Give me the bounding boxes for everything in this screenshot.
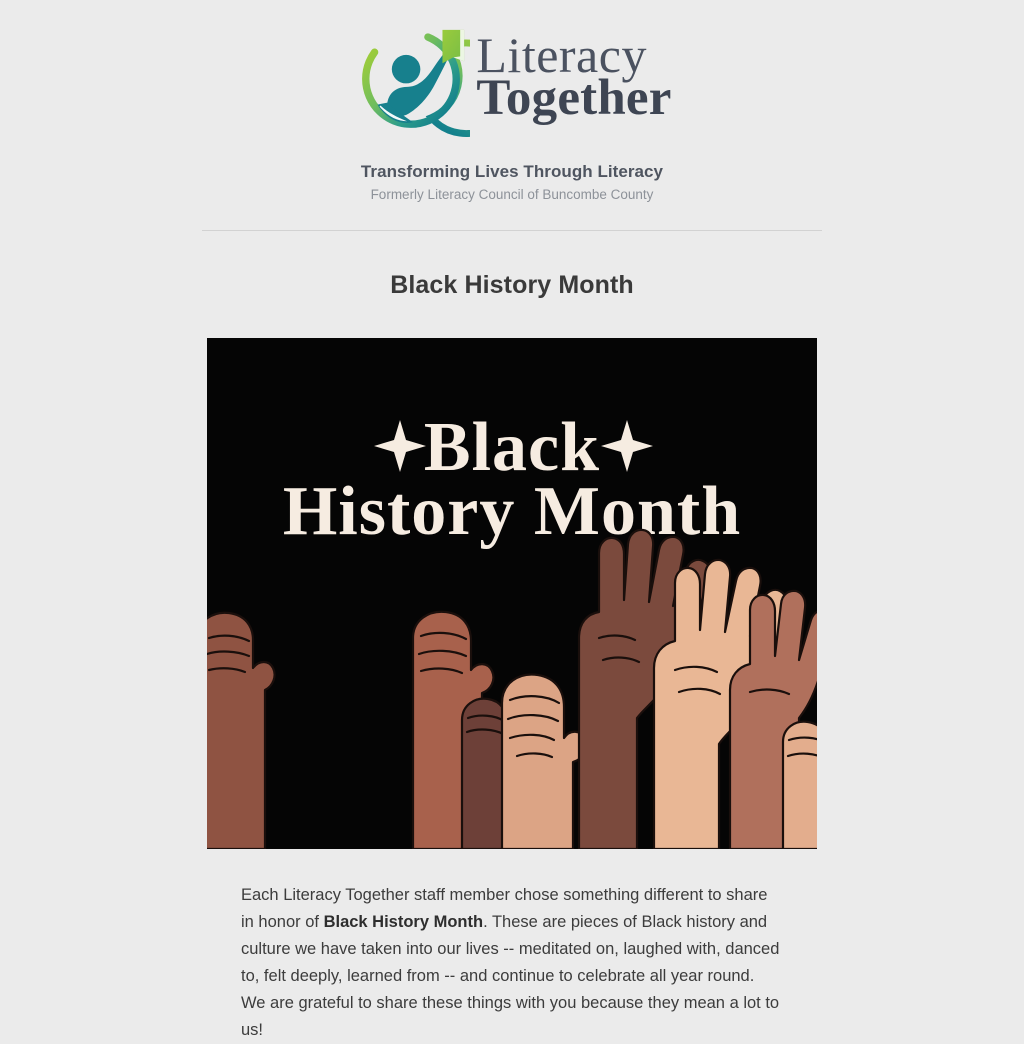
email-newsletter: Literacy Together Transforming Lives Thr… <box>0 0 1024 1024</box>
logo-lockup[interactable]: Literacy Together <box>0 14 1024 144</box>
subtagline: Formerly Literacy Council of Buncombe Co… <box>0 187 1024 202</box>
body-paragraph: Each Literacy Together staff member chos… <box>241 882 783 1044</box>
page-title: Black History Month <box>0 271 1024 300</box>
hero-image[interactable]: Black History Month <box>207 338 817 849</box>
email-body: Black History Month Black History Month <box>0 271 1024 1044</box>
header-divider <box>202 230 822 231</box>
tagline: Transforming Lives Through Literacy <box>0 162 1024 182</box>
email-header: Literacy Together Transforming Lives Thr… <box>0 0 1024 231</box>
paragraph-part-2: . These are pieces of Black history and … <box>241 913 779 1039</box>
literacy-together-logo-icon <box>352 20 470 138</box>
wordmark-together: Together <box>476 74 671 124</box>
raised-hands-illustration-icon: Black History Month <box>207 338 817 849</box>
logo-wordmark: Literacy Together <box>476 31 671 128</box>
paragraph-bold-phrase: Black History Month <box>324 913 484 931</box>
